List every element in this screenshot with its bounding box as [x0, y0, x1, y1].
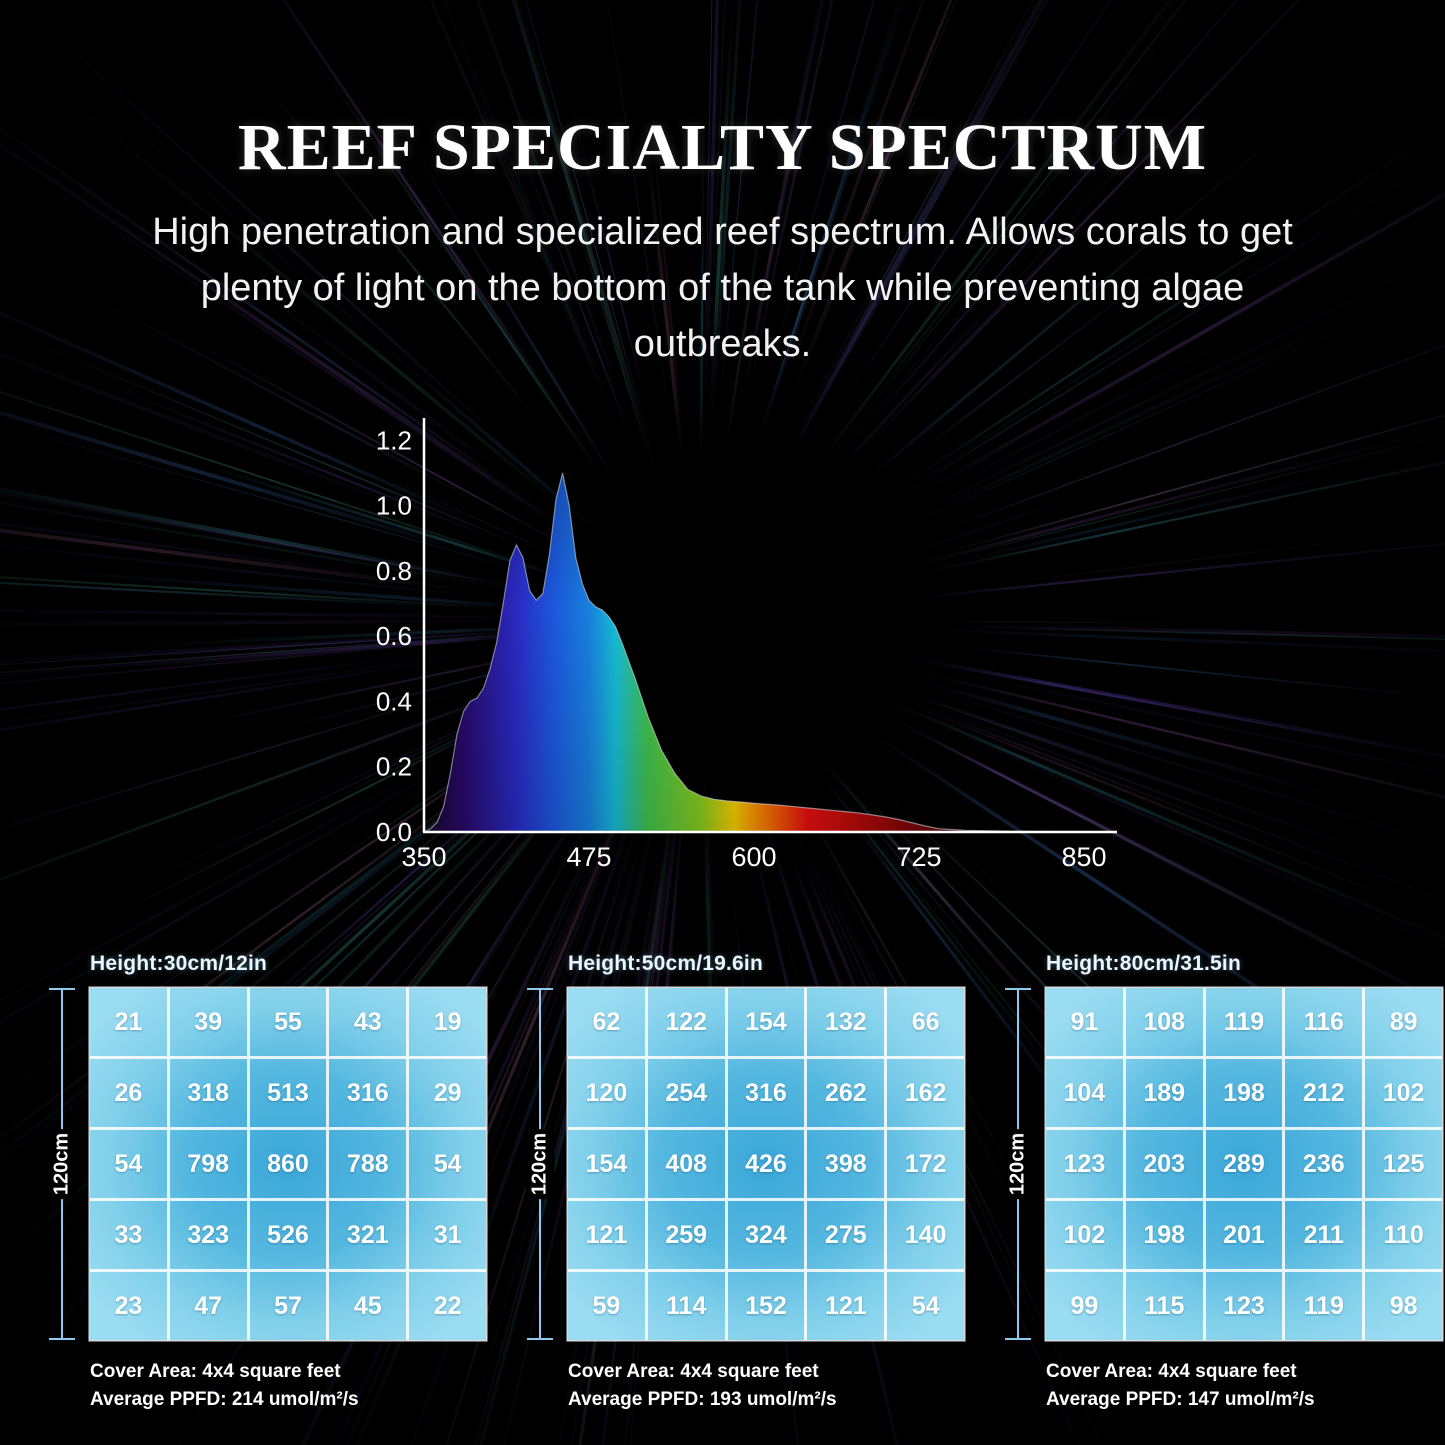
average-ppfd-text: Average PPFD: 214 umol/m²/s — [90, 1386, 486, 1414]
ppfd-cell: 104 — [1046, 1059, 1123, 1127]
ppfd-cell: 57 — [250, 1272, 327, 1340]
ppfd-cell: 54 — [887, 1272, 964, 1340]
ppfd-cell: 119 — [1206, 988, 1283, 1056]
ppfd-panel-body: 120cm 2139554319263185133162954798860788… — [34, 988, 486, 1340]
x-axis-tick-label: 725 — [896, 842, 941, 872]
ppfd-cell: 54 — [90, 1130, 167, 1198]
dimension-label: 120cm — [48, 1129, 77, 1199]
ppfd-cell: 33 — [90, 1201, 167, 1269]
ppfd-cell: 860 — [250, 1130, 327, 1198]
y-axis-tick-label: 0.6 — [376, 621, 412, 651]
dimension-cap-bottom — [49, 1338, 75, 1340]
ppfd-cell: 43 — [329, 988, 406, 1056]
x-axis-tick-label: 600 — [731, 842, 776, 872]
ppfd-cell: 115 — [1126, 1272, 1203, 1340]
cover-area-text: Cover Area: 4x4 square feet — [90, 1358, 486, 1386]
y-axis-tick-label: 1.2 — [376, 425, 412, 455]
dimension-cap-top — [1005, 988, 1031, 990]
ppfd-panel-body: 120cm 6212215413266120254316262162154408… — [512, 988, 964, 1340]
ppfd-cell: 122 — [648, 988, 725, 1056]
ppfd-cell: 254 — [648, 1059, 725, 1127]
dimension-gauge: 120cm — [34, 988, 90, 1340]
ppfd-cell: 289 — [1206, 1130, 1283, 1198]
ppfd-cell: 99 — [1046, 1272, 1123, 1340]
ppfd-panel-header: Height:50cm/19.6in — [568, 952, 964, 976]
dimension-cap-top — [527, 988, 553, 990]
ppfd-cell: 203 — [1126, 1130, 1203, 1198]
ppfd-cell: 140 — [887, 1201, 964, 1269]
spectrum-infographic: REEF SPECIALTY SPECTRUM High penetration… — [0, 0, 1445, 1445]
ppfd-cell: 318 — [170, 1059, 247, 1127]
ppfd-cell: 513 — [250, 1059, 327, 1127]
average-ppfd-text: Average PPFD: 193 umol/m²/s — [568, 1386, 964, 1414]
ppfd-cell: 114 — [648, 1272, 725, 1340]
ppfd-cell: 102 — [1046, 1201, 1123, 1269]
ppfd-panel-caption: Cover Area: 4x4 square feet Average PPFD… — [90, 1358, 486, 1413]
ppfd-cell: 198 — [1206, 1059, 1283, 1127]
ppfd-cell: 316 — [728, 1059, 805, 1127]
ppfd-cell: 172 — [887, 1130, 964, 1198]
ppfd-cell: 408 — [648, 1130, 725, 1198]
ppfd-cell: 121 — [807, 1272, 884, 1340]
ppfd-cell: 54 — [409, 1130, 486, 1198]
page-subtitle: High penetration and specialized reef sp… — [148, 205, 1298, 373]
ppfd-cell: 19 — [409, 988, 486, 1056]
ppfd-panel-body: 120cm 9110811911689104189198212102123203… — [990, 988, 1442, 1340]
spectrum-chart-svg: 0.00.20.40.60.81.01.2350475600725850 — [372, 412, 1132, 882]
ppfd-grid: 9110811911689104189198212102123203289236… — [1046, 988, 1442, 1340]
ppfd-panel-80cm: Height:80cm/31.5in 120cm 911081191168910… — [990, 952, 1442, 1413]
ppfd-cell: 62 — [568, 988, 645, 1056]
ppfd-cell: 47 — [170, 1272, 247, 1340]
spectrum-chart: 0.00.20.40.60.81.01.2350475600725850 — [372, 412, 1132, 882]
dimension-gauge: 120cm — [990, 988, 1046, 1340]
ppfd-cell: 21 — [90, 988, 167, 1056]
ppfd-cell: 98 — [1365, 1272, 1442, 1340]
ppfd-cell: 22 — [409, 1272, 486, 1340]
ppfd-cell: 259 — [648, 1201, 725, 1269]
dimension-cap-bottom — [527, 1338, 553, 1340]
ppfd-cell: 66 — [887, 988, 964, 1056]
ppfd-cell: 119 — [1285, 1272, 1362, 1340]
ppfd-cell: 162 — [887, 1059, 964, 1127]
ppfd-cell: 120 — [568, 1059, 645, 1127]
ppfd-cell: 123 — [1046, 1130, 1123, 1198]
ppfd-panel-header: Height:80cm/31.5in — [1046, 952, 1442, 976]
ppfd-panel-30cm: Height:30cm/12in 120cm 21395543192631851… — [34, 952, 486, 1413]
ppfd-cell: 189 — [1126, 1059, 1203, 1127]
ppfd-grid: 2139554319263185133162954798860788543332… — [90, 988, 486, 1340]
cover-area-text: Cover Area: 4x4 square feet — [1046, 1358, 1442, 1386]
ppfd-panel-caption: Cover Area: 4x4 square feet Average PPFD… — [1046, 1358, 1442, 1413]
ppfd-cell: 31 — [409, 1201, 486, 1269]
ppfd-cell: 316 — [329, 1059, 406, 1127]
dimension-cap-bottom — [1005, 1338, 1031, 1340]
ppfd-cell: 323 — [170, 1201, 247, 1269]
cover-area-text: Cover Area: 4x4 square feet — [568, 1358, 964, 1386]
ppfd-panel-caption: Cover Area: 4x4 square feet Average PPFD… — [568, 1358, 964, 1413]
ppfd-cell: 154 — [568, 1130, 645, 1198]
ppfd-cell: 398 — [807, 1130, 884, 1198]
header: REEF SPECIALTY SPECTRUM High penetration… — [0, 0, 1445, 373]
ppfd-cell: 262 — [807, 1059, 884, 1127]
ppfd-cell: 125 — [1365, 1130, 1442, 1198]
ppfd-cell: 29 — [409, 1059, 486, 1127]
ppfd-cell: 45 — [329, 1272, 406, 1340]
ppfd-cell: 59 — [568, 1272, 645, 1340]
ppfd-cell: 39 — [170, 988, 247, 1056]
dimension-label: 120cm — [1004, 1129, 1033, 1199]
ppfd-cell: 26 — [90, 1059, 167, 1127]
ppfd-cell: 798 — [170, 1130, 247, 1198]
y-axis-tick-label: 1.0 — [376, 491, 412, 521]
ppfd-cell: 236 — [1285, 1130, 1362, 1198]
y-axis-tick-label: 0.2 — [376, 752, 412, 782]
dimension-cap-top — [49, 988, 75, 990]
ppfd-cell: 212 — [1285, 1059, 1362, 1127]
average-ppfd-text: Average PPFD: 147 umol/m²/s — [1046, 1386, 1442, 1414]
ppfd-cell: 154 — [728, 988, 805, 1056]
ppfd-cell: 23 — [90, 1272, 167, 1340]
ppfd-cell: 116 — [1285, 988, 1362, 1056]
ppfd-cell: 324 — [728, 1201, 805, 1269]
dimension-label: 120cm — [526, 1129, 555, 1199]
ppfd-panel-header: Height:30cm/12in — [90, 952, 486, 976]
dimension-gauge: 120cm — [512, 988, 568, 1340]
ppfd-cell: 121 — [568, 1201, 645, 1269]
ppfd-cell: 526 — [250, 1201, 327, 1269]
spectrum-area-fill — [424, 424, 1117, 832]
y-axis-tick-label: 0.4 — [376, 686, 412, 716]
ppfd-cell: 110 — [1365, 1201, 1442, 1269]
ppfd-cell: 132 — [807, 988, 884, 1056]
ppfd-cell: 198 — [1126, 1201, 1203, 1269]
ppfd-cell: 102 — [1365, 1059, 1442, 1127]
ppfd-cell: 321 — [329, 1201, 406, 1269]
ppfd-cell: 426 — [728, 1130, 805, 1198]
ppfd-cell: 152 — [728, 1272, 805, 1340]
x-axis-tick-label: 475 — [566, 842, 611, 872]
page-title: REEF SPECIALTY SPECTRUM — [0, 112, 1445, 183]
x-axis-tick-label: 850 — [1061, 842, 1106, 872]
y-axis-tick-label: 0.8 — [376, 556, 412, 586]
ppfd-cell: 55 — [250, 988, 327, 1056]
ppfd-cell: 108 — [1126, 988, 1203, 1056]
ppfd-panel-50cm: Height:50cm/19.6in 120cm 621221541326612… — [512, 952, 964, 1413]
ppfd-cell: 275 — [807, 1201, 884, 1269]
ppfd-cell: 91 — [1046, 988, 1123, 1056]
ppfd-cell: 788 — [329, 1130, 406, 1198]
ppfd-cell: 123 — [1206, 1272, 1283, 1340]
ppfd-grid: 6212215413266120254316262162154408426398… — [568, 988, 964, 1340]
ppfd-cell: 89 — [1365, 988, 1442, 1056]
x-axis-tick-label: 350 — [401, 842, 446, 872]
ppfd-cell: 201 — [1206, 1201, 1283, 1269]
ppfd-cell: 211 — [1285, 1201, 1362, 1269]
